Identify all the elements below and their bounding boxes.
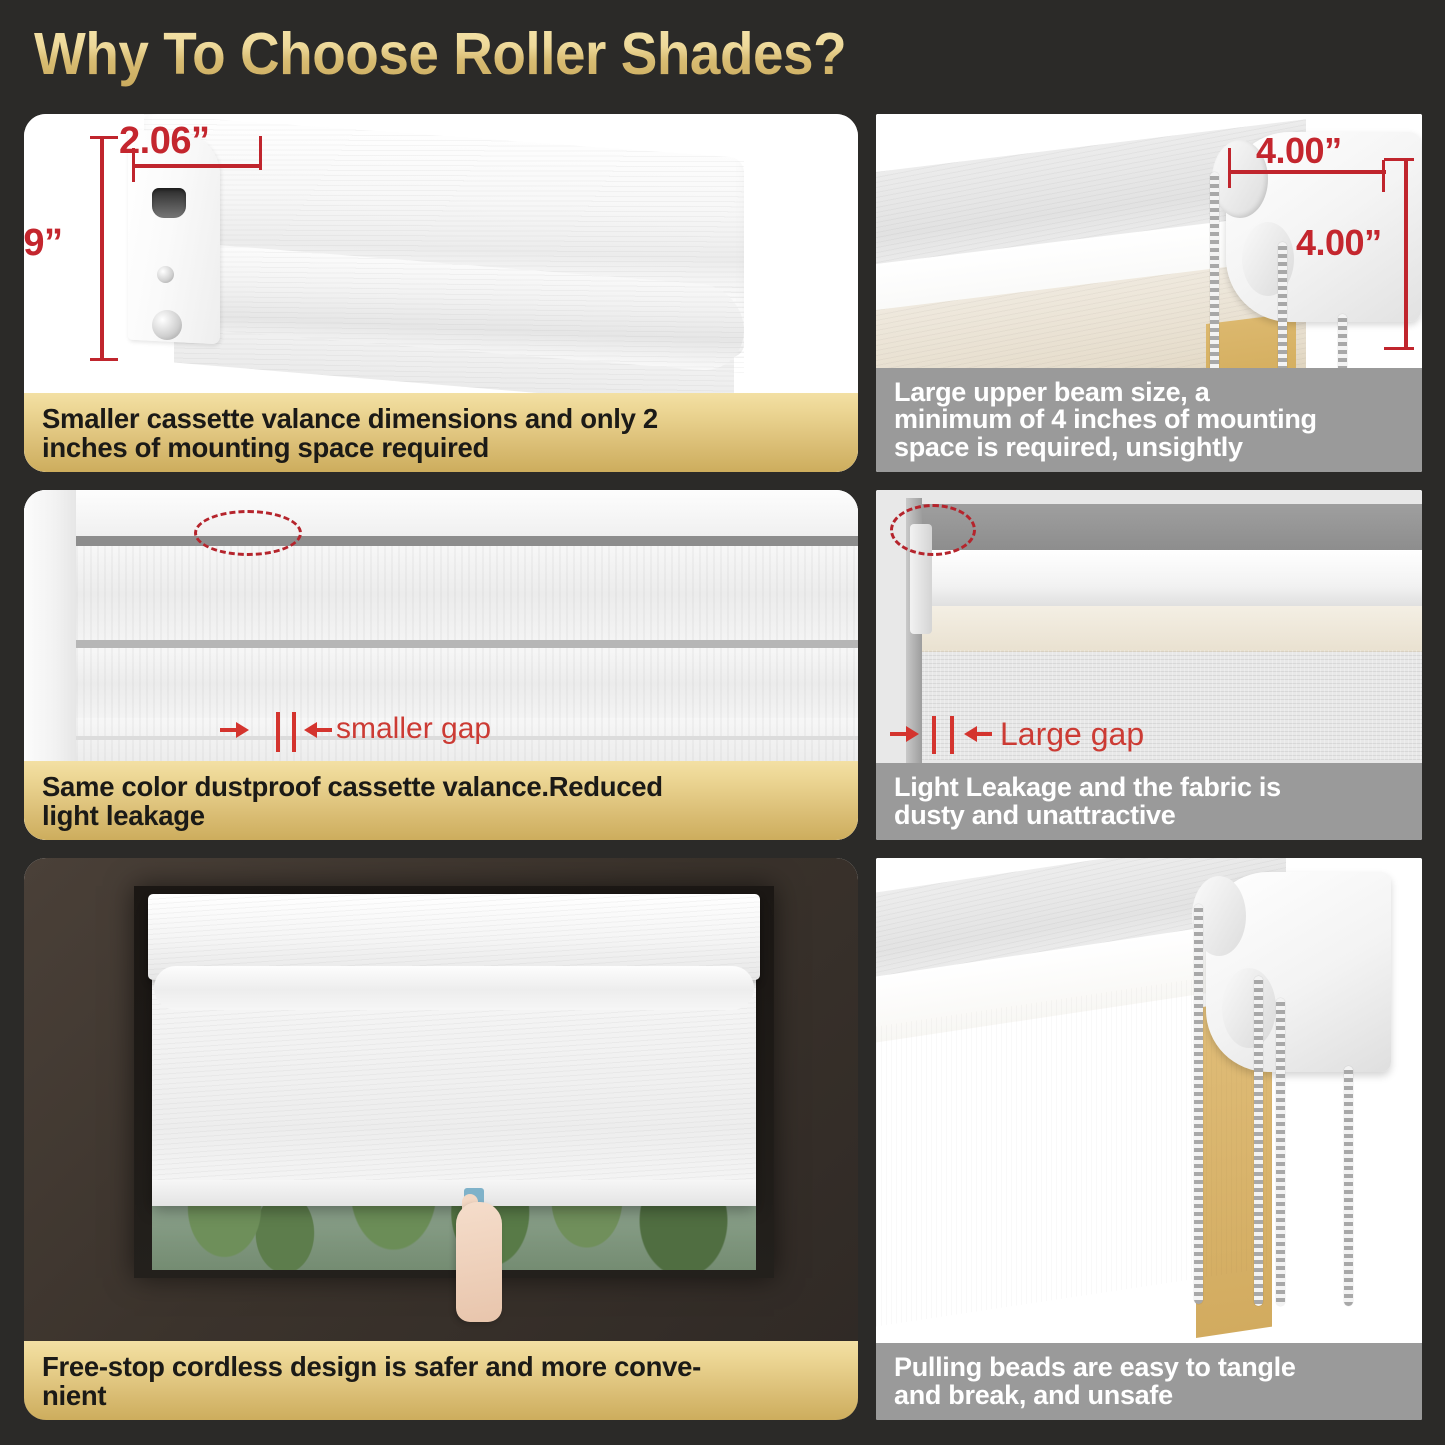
bead-chain-left [1194,904,1203,1304]
panel-2-caption-bar: Large upper beam size, a minimum of 4 in… [876,368,1422,472]
shade-roll [154,966,754,1010]
dimension-tick-right [259,136,262,170]
gap-arrow-stem-left [220,728,240,732]
panel-4-caption-bar: Light Leakage and the fabric is dusty an… [876,763,1422,840]
gap-tick-left [932,716,936,754]
roller-end-disc-lower [1222,968,1276,1048]
panel-light-leakage: Large gap Light Leakage and the fabric i… [876,490,1422,840]
fabric-tan [916,650,1422,760]
fabric-cream-band [916,606,1422,652]
dimension-tick-left [1228,148,1231,188]
dimension-tick-bottom [1384,347,1414,350]
bead-chain-right [1344,1066,1353,1306]
panel-2-caption-text: Large upper beam size, a minimum of 4 in… [894,379,1317,462]
panel-6-caption-text: Pulling beads are easy to tangle and bre… [894,1354,1296,1410]
gap-tick-left [276,712,280,752]
dimension-label-height: 4.00” [1296,222,1382,264]
page-title: Why To Choose Roller Shades? [34,20,846,88]
panel-6-caption-bar: Pulling beads are easy to tangle and bre… [876,1343,1422,1420]
end-cap-knob [152,310,182,340]
dimension-label-width: 4.00” [1256,130,1342,172]
gap-arrow-stem-right [976,732,992,736]
dimension-tick-top [1384,158,1414,161]
bead-chain-middle [1254,976,1263,1306]
hand [456,1202,502,1322]
shade-roll [76,648,858,720]
page-header: Why To Choose Roller Shades? [0,0,1445,108]
gap-label: Large gap [1000,716,1144,753]
highlight-ellipse [890,504,976,556]
panel-smaller-cassette-valance: 2.06” 5.49” Smaller cassette valance dim… [24,114,858,472]
panel-4-caption-text: Light Leakage and the fabric is dusty an… [894,774,1281,830]
fabric-texture [76,546,858,642]
gap-arrow-stem-right [316,728,332,732]
panel-5-caption-bar: Free-stop cordless design is safer and m… [24,1341,858,1420]
cassette-valance-face [76,546,858,642]
panel-pulling-beads: Pulling beads are easy to tangle and bre… [876,858,1422,1420]
panel-1-caption-text: Smaller cassette valance dimensions and … [42,404,658,462]
panel-1-caption-bar: Smaller cassette valance dimensions and … [24,393,858,472]
valance-shadow-line [76,640,858,648]
panel-large-upper-beam: 4.00” 4.00” Large upper beam size, a min… [876,114,1422,472]
dimension-label-height: 5.49” [24,222,62,265]
dimension-tick-bottom [90,358,118,361]
panel-free-stop-cordless: Free-stop cordless design is safer and m… [24,858,858,1420]
highlight-ellipse [194,510,302,556]
panel-dustproof-cassette-valance: smaller gap Same color dustproof cassett… [24,490,858,840]
bead-chain-middle-2 [1276,998,1285,1306]
dimension-line-width [132,164,262,168]
gap-tick-right [292,712,296,752]
end-cap-slot [152,188,186,218]
dimension-line-height [100,136,104,361]
panel-5-photo [24,858,858,1420]
dimension-label-width: 2.06” [119,120,209,163]
dimension-tick-top [90,136,118,139]
roller-tube-shadow [916,504,1422,556]
dimension-tick-right [1382,160,1385,192]
gap-label: smaller gap [336,712,491,746]
panel-6-photo [876,858,1422,1420]
gap-tick-right [950,716,954,754]
panel-5-caption-text: Free-stop cordless design is safer and m… [42,1352,701,1410]
gap-arrow-stem-left [890,732,910,736]
panel-3-caption-text: Same color dustproof cassette valance.Re… [42,772,663,830]
end-cap-screw [157,266,174,283]
window-frame-top [24,490,858,536]
white-valance [916,550,1422,610]
bottom-rail [152,1180,756,1206]
valance-top-edge [76,536,858,546]
fabric-texture [76,648,858,720]
panel-3-caption-bar: Same color dustproof cassette valance.Re… [24,761,858,840]
dimension-line-height [1404,158,1408,350]
